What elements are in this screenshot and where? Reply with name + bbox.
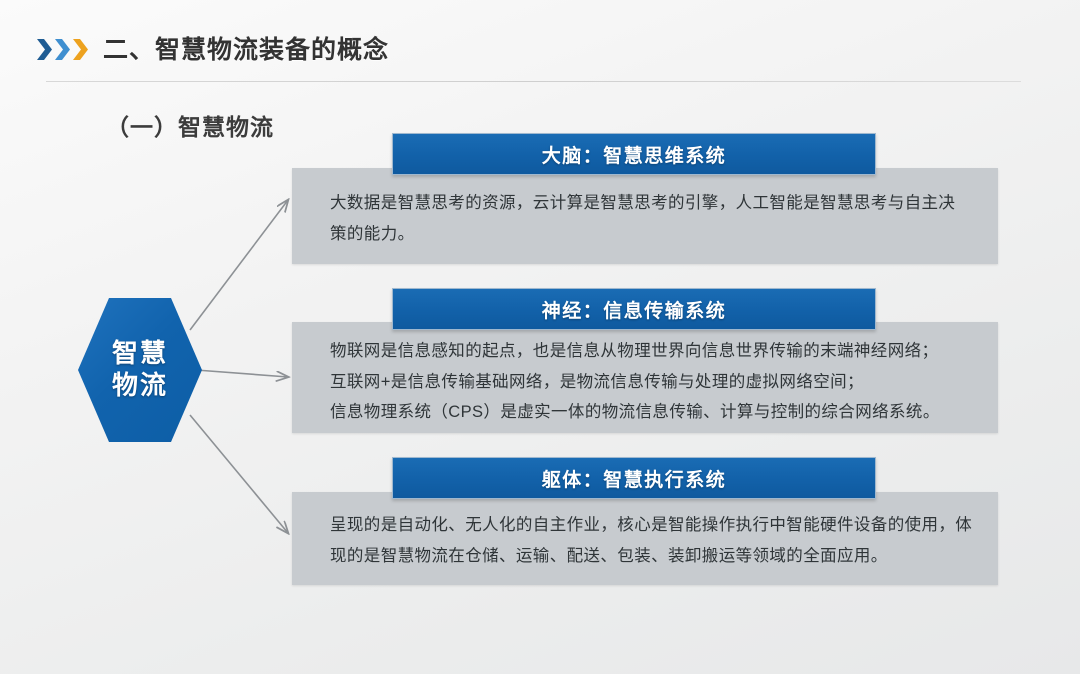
group-body-text: 物联网是信息感知的起点，也是信息从物理世界向信息世界传输的末端神经网络； 互联网… [330, 336, 980, 428]
group-body-text: 呈现的是自动化、无人化的自主作业，核心是智能操作执行中智能硬件设备的使用，体现的… [330, 510, 978, 571]
group-header-bar[interactable]: 大脑：智慧思维系统 [392, 133, 876, 175]
group-header-label: 神经：信息传输系统 [542, 296, 727, 323]
chevron-right-icon [54, 37, 71, 62]
slide-title-row: 二、智慧物流装备的概念 [36, 28, 389, 68]
chevron-right-icon [72, 37, 89, 62]
arrow-right-icon [196, 370, 288, 377]
group-header-bar[interactable]: 躯体：智慧执行系统 [392, 457, 876, 499]
page-title: 二、智慧物流装备的概念 [103, 30, 389, 66]
slide-canvas: 二、智慧物流装备的概念 （一）智慧物流 智慧 物流 大脑：智慧思维系统 大数据是… [0, 0, 1080, 674]
group-header-bar[interactable]: 神经：信息传输系统 [392, 288, 876, 330]
group-header-label: 躯体：智慧执行系统 [542, 465, 727, 492]
chevron-group [36, 35, 89, 62]
arrow-down-right-icon [190, 415, 288, 533]
group-body-text: 大数据是智慧思考的资源，云计算是智慧思考的引擎，人工智能是智慧思考与自主决策的能… [330, 188, 970, 249]
group-header-label: 大脑：智慧思维系统 [542, 141, 727, 168]
chevron-right-icon [36, 37, 53, 62]
center-node-hexagon: 智慧 物流 [78, 298, 202, 442]
section-subtitle: （一）智慧物流 [106, 108, 274, 142]
arrow-up-right-icon [190, 200, 288, 330]
title-divider [46, 81, 1021, 82]
center-node-label: 智慧 物流 [78, 298, 202, 442]
